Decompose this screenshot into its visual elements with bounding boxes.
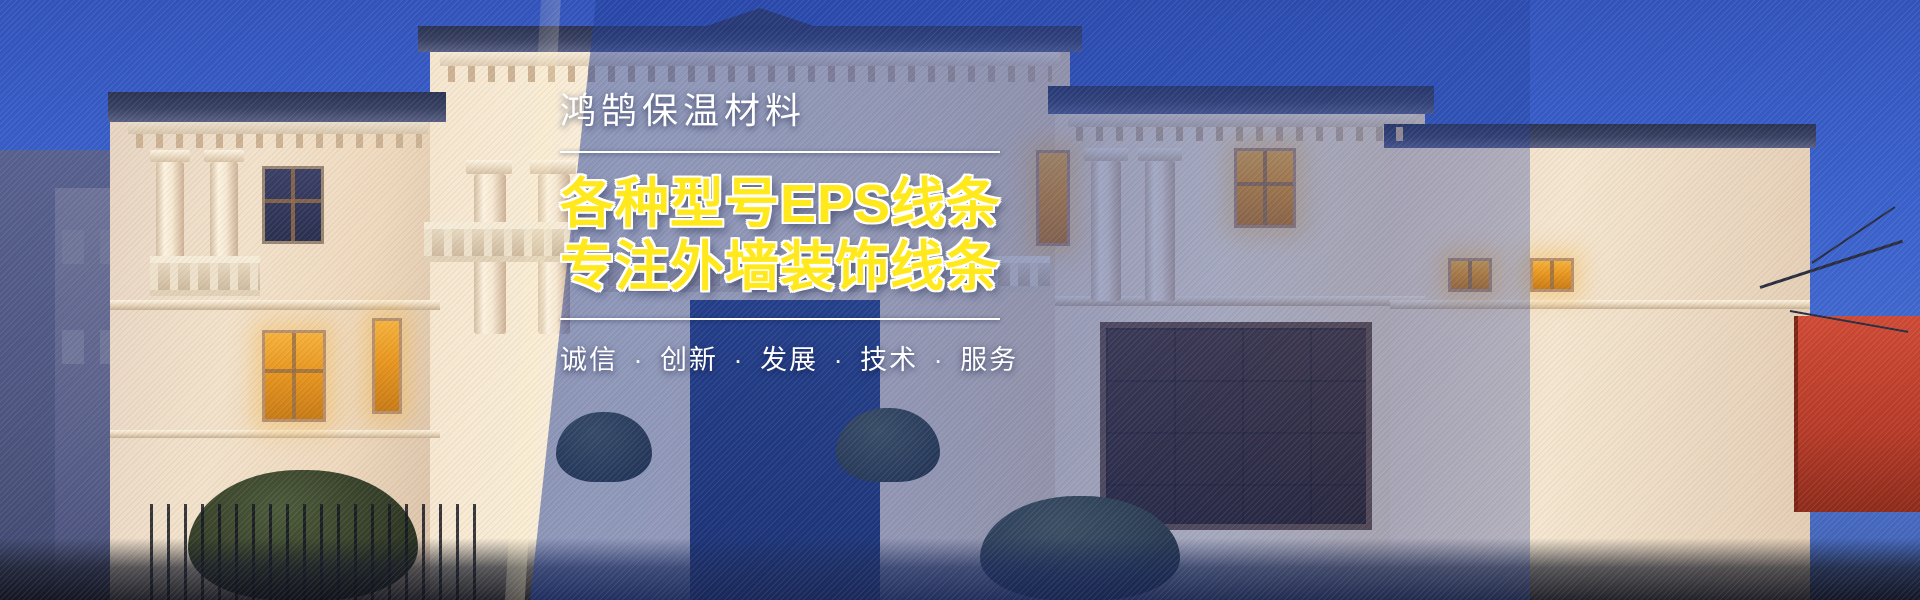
- roof-left: [108, 92, 446, 122]
- dentil-row-center: [448, 66, 1052, 82]
- tagline: 诚信 · 创新 · 发展 · 技术 · 服务: [560, 338, 1000, 377]
- headline-line-1: 各种型号EPS线条: [560, 173, 1000, 236]
- column-capital: [466, 160, 512, 174]
- window-lit: [262, 330, 326, 422]
- tagline-item: 诚信: [560, 345, 618, 375]
- roof-right: [1048, 86, 1434, 114]
- divider-lower: [560, 318, 1000, 320]
- tagline-item: 服务: [960, 345, 1018, 375]
- belt-course-left: [110, 300, 440, 310]
- tagline-item: 创新: [660, 345, 718, 375]
- company-name: 鸿鹄保温材料: [560, 88, 1000, 133]
- headline-line-2: 专注外墙装饰线条: [560, 236, 1000, 299]
- cornice-center: [440, 52, 1060, 66]
- window-lit: [372, 318, 402, 414]
- balustrade-left: [150, 256, 260, 296]
- window-dark: [262, 166, 324, 244]
- roof-center: [418, 26, 1082, 52]
- garage-door: [1100, 322, 1372, 530]
- window-lit: [1448, 258, 1492, 292]
- window-lit: [1530, 258, 1574, 292]
- roof-far-right: [1384, 124, 1816, 148]
- belt-course-far-right: [1390, 300, 1810, 309]
- shrub: [556, 412, 652, 482]
- background-window: [62, 330, 84, 364]
- dentil-row-right: [1076, 127, 1408, 141]
- tagline-separator: ·: [628, 345, 651, 375]
- column-capital: [1084, 148, 1128, 161]
- red-container: [1794, 316, 1920, 512]
- balustrade-center-upper: [424, 222, 574, 262]
- villa-far-right-wing: [1390, 130, 1810, 600]
- cornice-right: [1068, 114, 1416, 127]
- tagline-item: 技术: [860, 345, 918, 375]
- foreground-ground: [0, 538, 1920, 600]
- column-capital: [1138, 148, 1182, 161]
- column: [1145, 161, 1175, 301]
- divider-upper: [560, 151, 1000, 153]
- hero-banner: 鸿鹄保温材料 各种型号EPS线条 专注外墙装饰线条 诚信 · 创新 · 发展 ·…: [0, 0, 1920, 600]
- column-capital: [204, 150, 244, 162]
- window-lit: [1234, 148, 1296, 228]
- tagline-separator: ·: [728, 345, 751, 375]
- window-lit: [1036, 150, 1070, 246]
- tagline-separator: ·: [828, 345, 851, 375]
- banner-text-block: 鸿鹄保温材料 各种型号EPS线条 专注外墙装饰线条 诚信 · 创新 · 发展 ·…: [560, 88, 1000, 377]
- column-capital: [150, 150, 190, 162]
- cornice-left: [128, 122, 428, 134]
- dentil-row-left: [136, 134, 422, 148]
- tagline-item: 发展: [760, 345, 818, 375]
- tagline-separator: ·: [928, 345, 951, 375]
- belt-course-left-lower: [110, 430, 440, 438]
- column: [1091, 161, 1121, 301]
- background-window: [62, 230, 84, 264]
